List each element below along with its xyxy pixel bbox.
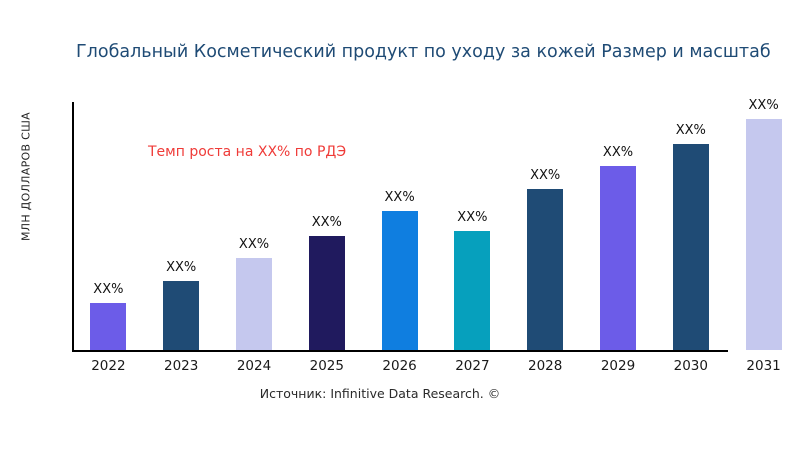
x-axis-line — [72, 350, 728, 352]
bar-group-2029[interactable]: XX% — [600, 102, 636, 350]
y-axis-label-container: МЛН ДОЛЛАРОВ США — [0, 0, 40, 360]
x-tick-2031: 2031 — [746, 358, 780, 374]
bar-group-2024[interactable]: XX% — [236, 102, 272, 350]
bar-group-2026[interactable]: XX% — [382, 102, 418, 350]
bar-group-2022[interactable]: XX% — [90, 102, 126, 350]
bar-group-2023[interactable]: XX% — [163, 102, 199, 350]
bar-value-label-2031: XX% — [749, 98, 779, 113]
bar-value-label-2029: XX% — [603, 145, 633, 160]
y-axis-label: МЛН ДОЛЛАРОВ США — [20, 47, 33, 307]
bar-value-label-2023: XX% — [166, 260, 196, 275]
bar-group-2030[interactable]: XX% — [673, 102, 709, 350]
x-tick-2030: 2030 — [674, 358, 708, 374]
chart-title: Глобальный Косметический продукт по уход… — [76, 40, 800, 64]
bar-value-label-2028: XX% — [530, 168, 560, 183]
bar-value-label-2024: XX% — [239, 237, 269, 252]
bar-value-label-2022: XX% — [93, 282, 123, 297]
bar-2022[interactable] — [90, 303, 126, 350]
bar-2030[interactable] — [673, 144, 709, 350]
bar-2031[interactable] — [746, 119, 782, 350]
bar-2026[interactable] — [382, 211, 418, 350]
x-tick-2028: 2028 — [528, 358, 562, 374]
bar-2027[interactable] — [454, 231, 490, 350]
bar-group-2025[interactable]: XX% — [309, 102, 345, 350]
plot-area: XX%XX%XX%XX%XX%XX%XX%XX%XX%XX% — [72, 102, 800, 350]
y-axis-line — [72, 102, 74, 350]
bar-2025[interactable] — [309, 236, 345, 350]
x-tick-2022: 2022 — [91, 358, 125, 374]
bar-2028[interactable] — [527, 189, 563, 350]
bar-value-label-2026: XX% — [385, 190, 415, 205]
chart-figure: Глобальный Косметический продукт по уход… — [0, 0, 800, 450]
x-tick-2024: 2024 — [237, 358, 271, 374]
x-tick-2027: 2027 — [455, 358, 489, 374]
x-tick-2029: 2029 — [601, 358, 635, 374]
bar-2024[interactable] — [236, 258, 272, 350]
bar-group-2031[interactable]: XX% — [746, 102, 782, 350]
bar-value-label-2027: XX% — [457, 210, 487, 225]
x-tick-2025: 2025 — [310, 358, 344, 374]
bar-value-label-2030: XX% — [676, 123, 706, 138]
bar-group-2027[interactable]: XX% — [454, 102, 490, 350]
bar-group-2028[interactable]: XX% — [527, 102, 563, 350]
source-note: Источник: Infinitive Data Research. © — [0, 386, 760, 401]
x-tick-2023: 2023 — [164, 358, 198, 374]
bar-2023[interactable] — [163, 281, 199, 350]
growth-rate-annotation: Темп роста на XX% по РДЭ — [148, 144, 346, 160]
x-tick-2026: 2026 — [382, 358, 416, 374]
bar-2029[interactable] — [600, 166, 636, 350]
bar-value-label-2025: XX% — [312, 215, 342, 230]
